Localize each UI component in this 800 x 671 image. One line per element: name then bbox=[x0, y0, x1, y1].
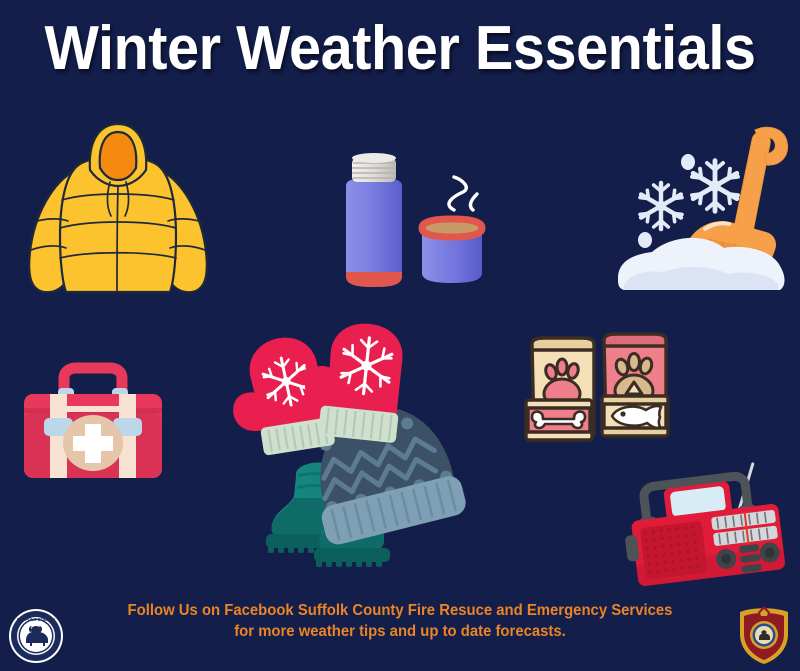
footer-line-1: Follow Us on Facebook Suffolk County Fir… bbox=[83, 600, 717, 621]
first-aid-kit bbox=[18, 362, 168, 482]
winter-jacket bbox=[18, 112, 218, 302]
winter-weather-essentials-poster: Winter Weather Essentials bbox=[0, 0, 800, 671]
seal-text-bottom: NEW YORK bbox=[25, 654, 48, 659]
snow-shovel bbox=[612, 118, 792, 298]
footer-text: Follow Us on Facebook Suffolk County Fir… bbox=[83, 600, 717, 642]
seal-text-top: SUFFOLK COUNTY bbox=[17, 617, 56, 622]
thermos-with-hot-drink bbox=[330, 148, 505, 293]
suffolk-county-new-york-seal: SUFFOLK COUNTY NEW YORK bbox=[8, 608, 64, 664]
page-title: Winter Weather Essentials bbox=[28, 16, 772, 82]
fire-rescue-emergency-services-badge bbox=[736, 604, 792, 666]
pet-food-supplies bbox=[524, 330, 674, 445]
footer-line-2: for more weather tips and up to date for… bbox=[83, 621, 717, 642]
emergency-radio bbox=[620, 456, 795, 586]
mittens-boots-and-beanie bbox=[218, 330, 468, 580]
